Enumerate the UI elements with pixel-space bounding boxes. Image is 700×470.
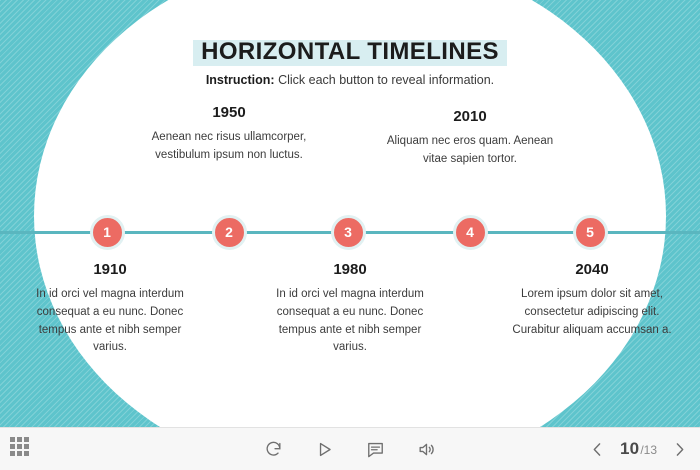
chevron-left-icon[interactable] [589, 441, 606, 458]
slide-canvas: HORIZONTAL TIMELINES Instruction: Click … [0, 0, 700, 470]
timeline-entry-5: 2040 Lorem ipsum dolor sit amet, consect… [507, 261, 677, 339]
marker-number: 4 [466, 224, 474, 240]
replay-icon[interactable] [264, 440, 283, 459]
instruction-label: Instruction: [206, 73, 275, 87]
timeline-marker-2[interactable]: 2 [212, 215, 247, 250]
timeline-entry-2: 1950 Aenean nec risus ullamcorper, vesti… [144, 104, 314, 165]
entry-year: 2040 [507, 261, 677, 278]
toolbar-right-group: 10 /13 [589, 428, 688, 470]
entry-text: In id orci vel magna interdum consequat … [25, 286, 195, 357]
volume-icon[interactable] [417, 440, 436, 459]
marker-number: 1 [103, 224, 111, 240]
timeline-marker-4[interactable]: 4 [453, 215, 488, 250]
instruction-line: Instruction: Click each button to reveal… [0, 73, 700, 87]
page-indicator: 10 /13 [620, 439, 657, 459]
entry-year: 1950 [144, 104, 314, 121]
marker-number: 2 [225, 224, 233, 240]
entry-year: 2010 [385, 108, 555, 125]
play-icon[interactable] [315, 440, 334, 459]
player-toolbar: 10 /13 [0, 427, 700, 470]
total-pages: /13 [640, 443, 657, 457]
marker-number: 3 [344, 224, 352, 240]
timeline-entry-3: 1980 In id orci vel magna interdum conse… [265, 261, 435, 357]
entry-text: Aliquam nec eros quam. Aenean vitae sapi… [385, 133, 555, 169]
timeline-marker-3[interactable]: 3 [331, 215, 366, 250]
current-page-number: 10 [620, 439, 639, 459]
entry-text: Aenean nec risus ullamcorper, vestibulum… [144, 129, 314, 165]
timeline-entry-1: 1910 In id orci vel magna interdum conse… [25, 261, 195, 357]
marker-number: 5 [586, 224, 594, 240]
timeline-marker-5[interactable]: 5 [573, 215, 608, 250]
page-title-text: HORIZONTAL TIMELINES [201, 38, 499, 65]
entry-year: 1980 [265, 261, 435, 278]
notes-icon[interactable] [366, 440, 385, 459]
entry-text: Lorem ipsum dolor sit amet, consectetur … [507, 286, 677, 339]
page-title: HORIZONTAL TIMELINES [0, 36, 700, 69]
entry-text: In id orci vel magna interdum consequat … [265, 286, 435, 357]
instruction-text: Click each button to reveal information. [278, 73, 494, 87]
chevron-right-icon[interactable] [671, 441, 688, 458]
timeline-entry-4: 2010 Aliquam nec eros quam. Aenean vitae… [385, 108, 555, 169]
timeline-marker-1[interactable]: 1 [90, 215, 125, 250]
entry-year: 1910 [25, 261, 195, 278]
